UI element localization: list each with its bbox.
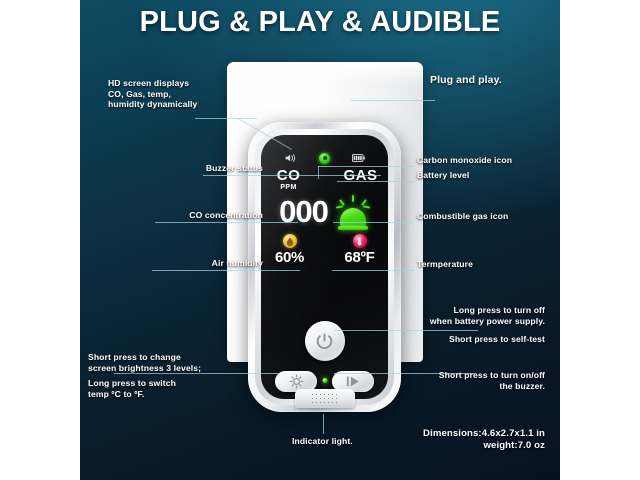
temperature-cell: 68ºF	[337, 234, 383, 266]
page-title: PLUG & PLAY & AUDIBLE	[80, 6, 560, 39]
leader-hd-screen	[195, 118, 257, 119]
plate-sheen	[227, 62, 423, 84]
callout-air-humidity: Air humidity	[128, 258, 263, 269]
leader-carbon-monoxide-drop	[318, 166, 319, 179]
humidity-cell: 60%	[267, 234, 313, 266]
status-icon-row	[261, 151, 388, 165]
callout-power-short-press: Short press to self-test	[360, 334, 545, 345]
screen-label-row: CO PPM GAS	[261, 168, 388, 191]
co-unit-label: PPM	[266, 184, 312, 191]
callout-carbon-monoxide-icon: Carbon monoxide icon	[417, 155, 512, 166]
leader-power-press	[334, 330, 478, 331]
infographic-canvas: PLUG & PLAY & AUDIBLE	[0, 0, 640, 480]
leader-air-humidity	[152, 270, 300, 271]
callout-power-long-press: Long press to turn off when battery powe…	[360, 305, 545, 326]
temperature-value: 68ºF	[337, 249, 383, 266]
grille-dots	[311, 393, 339, 405]
leader-buzzer-status	[203, 175, 381, 176]
temperature-icon	[353, 234, 367, 248]
callout-combustible-gas-icon: Combustible gas icon	[417, 211, 508, 222]
callout-battery-level: Battery level	[417, 170, 469, 181]
leader-battery-level	[337, 181, 414, 182]
leader-temperature	[332, 270, 414, 271]
indicator-led	[322, 378, 327, 383]
carbon-monoxide-icon	[319, 153, 330, 164]
speaker-buzzer-icon	[284, 153, 297, 163]
callout-temp-unit-press: Long press to switch temp ºC to ºF.	[88, 378, 176, 399]
leader-plug-and-play	[351, 100, 435, 101]
humidity-value: 60%	[267, 249, 313, 266]
callout-plug-and-play: Plug and play.	[430, 75, 502, 86]
humidity-icon	[283, 234, 297, 248]
environment-row: 60% 68ºF	[261, 234, 388, 266]
speaker-grille	[295, 389, 355, 408]
infographic-panel: PLUG & PLAY & AUDIBLE	[80, 0, 560, 480]
callout-temperature: Termperature	[417, 259, 473, 270]
callout-brightness-press: Short press to change screen brightness …	[88, 352, 201, 373]
leader-combustible-gas	[333, 222, 412, 223]
co-label-block: CO PPM	[266, 168, 312, 191]
device-screen: CO PPM GAS 000	[261, 151, 388, 266]
callout-hd-screen: HD screen displays CO, Gas, temp, humidi…	[108, 78, 197, 110]
battery-icon	[352, 153, 365, 163]
leader-indicator-light	[323, 414, 324, 434]
leader-co-concentration	[155, 222, 298, 223]
specs-text: Dimensions:4.6x2.7x1.1 in weight:7.0 oz	[360, 428, 545, 452]
callout-indicator-light: Indicator light.	[292, 436, 353, 447]
callout-co-concentration: CO concentration	[128, 210, 263, 221]
callout-buzzer-status: Buzzer status	[138, 163, 263, 174]
callout-buzzer-press: Short press to turn on/off the buzzer.	[360, 370, 545, 391]
power-button[interactable]	[305, 321, 345, 361]
leader-carbon-monoxide	[318, 166, 414, 167]
